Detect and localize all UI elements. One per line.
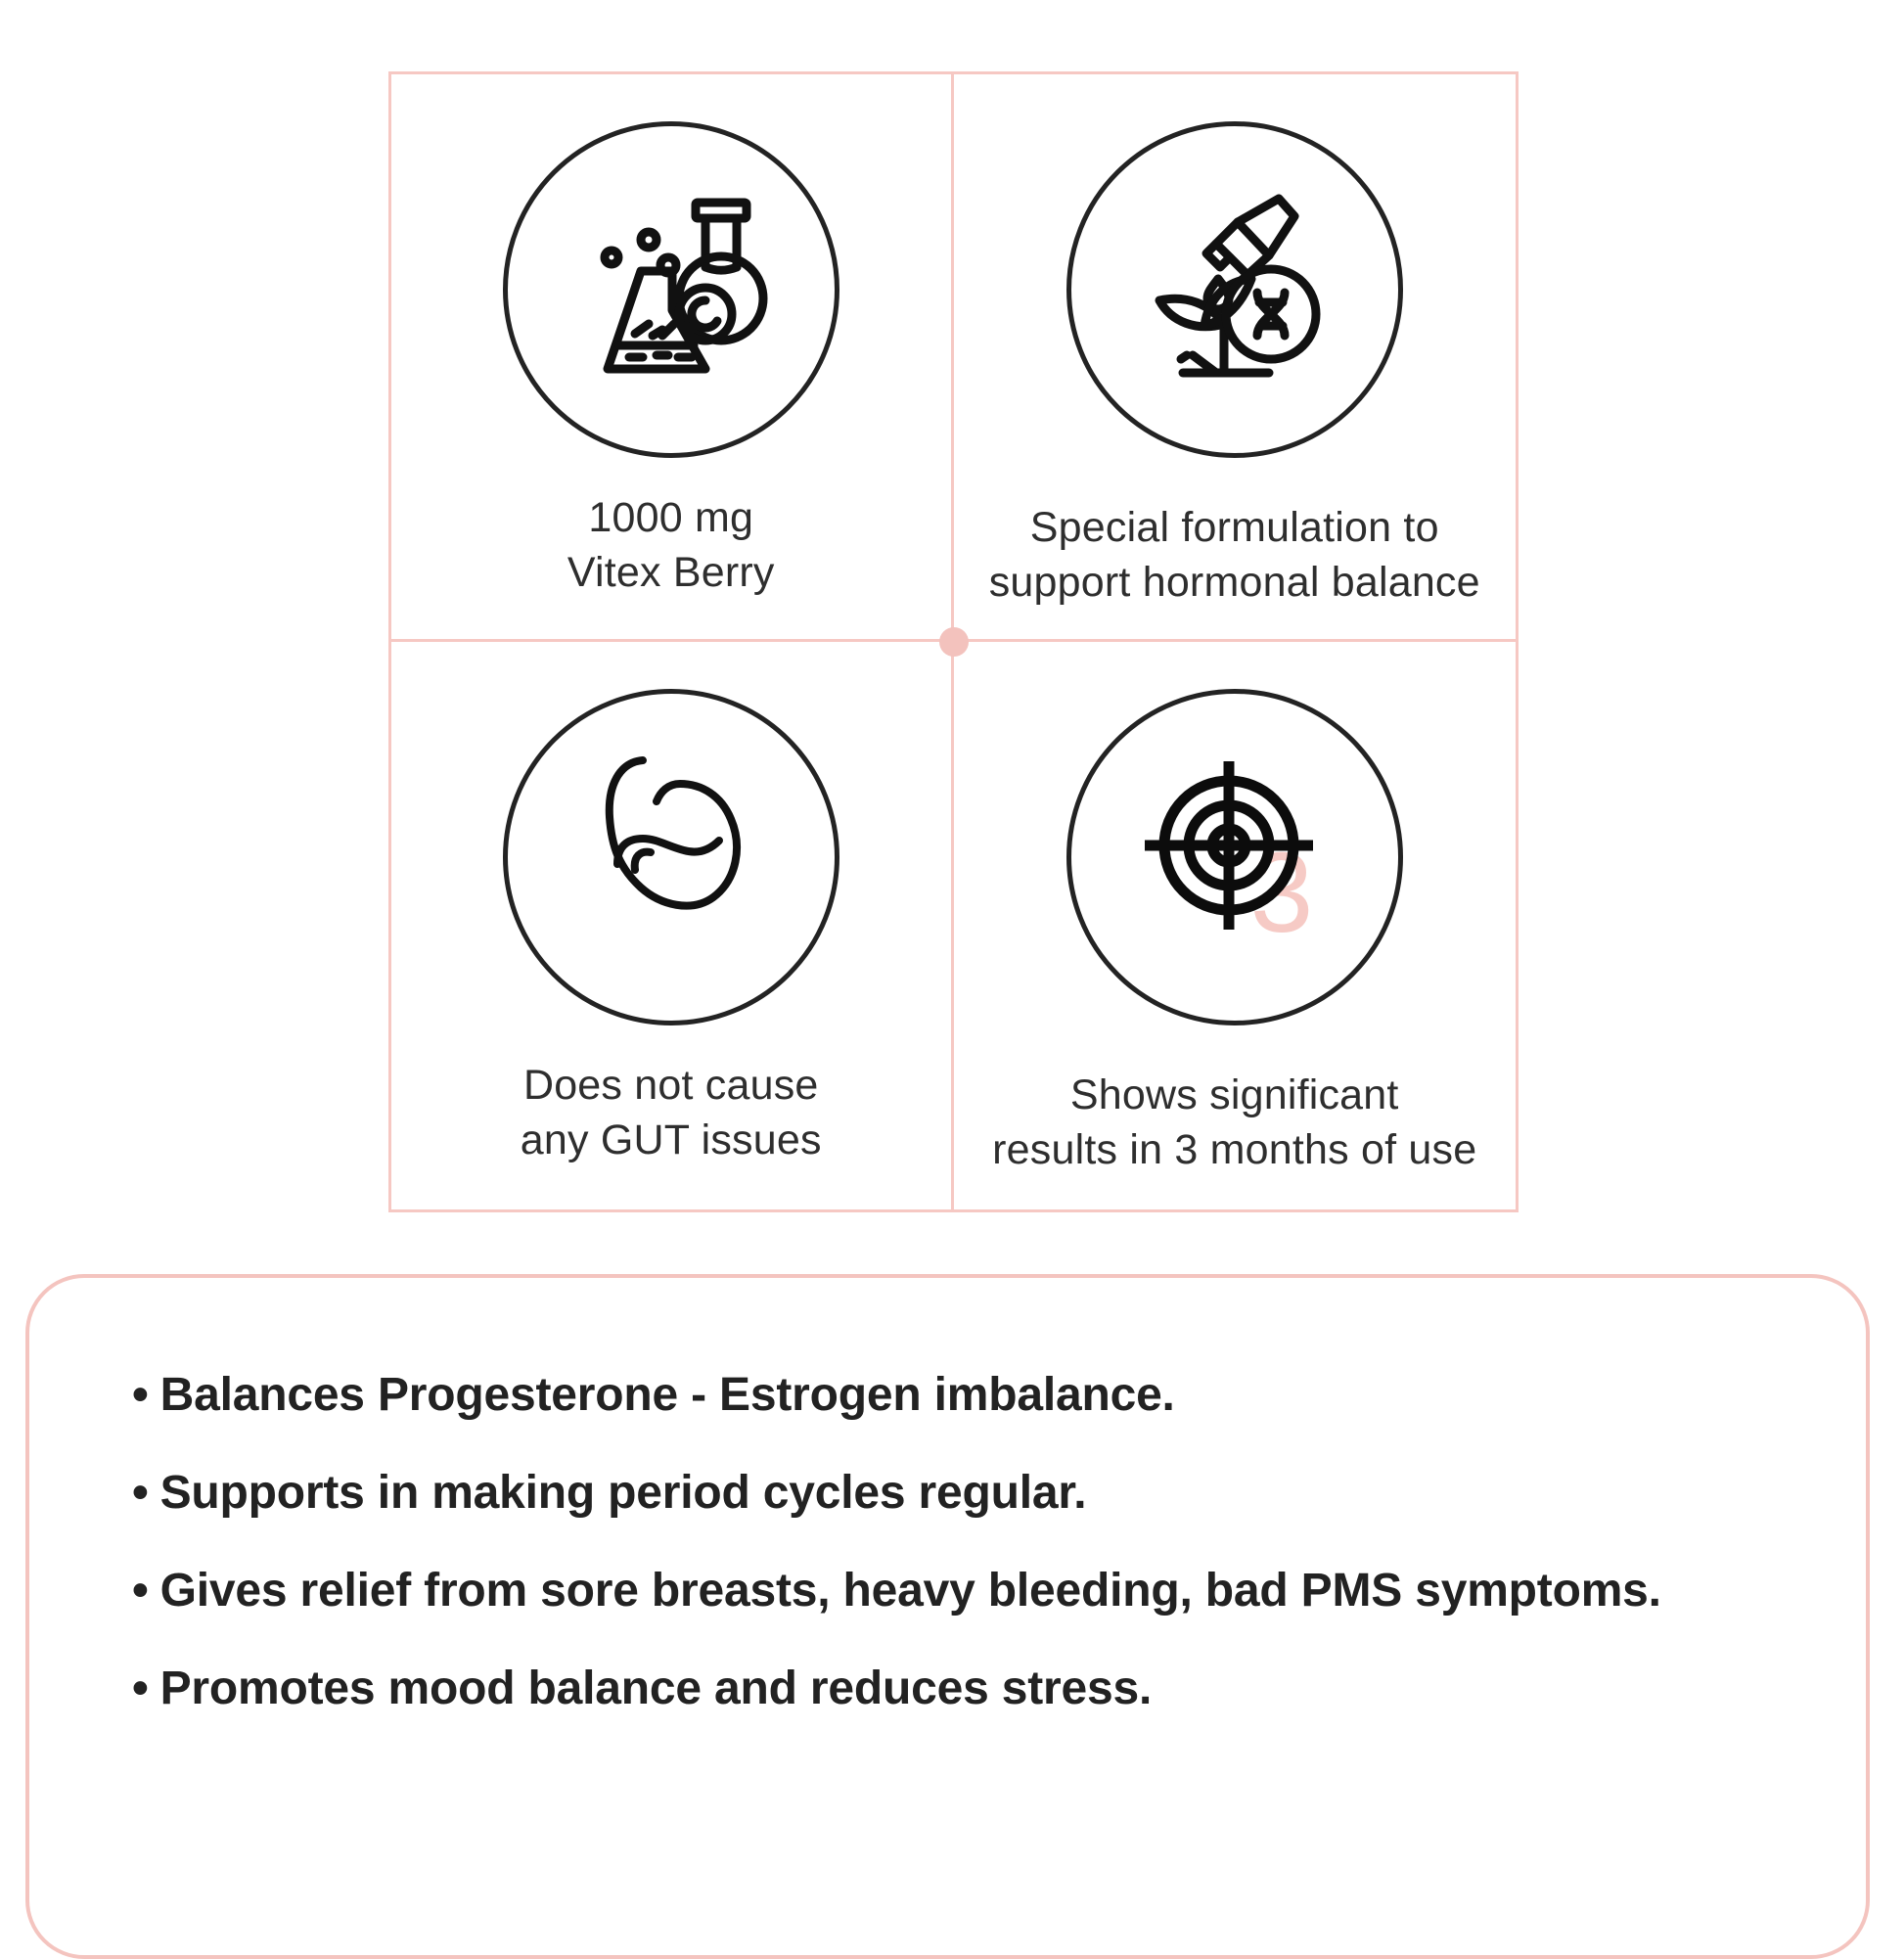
benefits-panel: •Balances Progesterone - Estrogen imbala… xyxy=(25,1274,1870,1959)
feature-caption-gut: Does not cause any GUT issues xyxy=(521,1059,822,1168)
feature-grid-container: 1000 mg Vitex Berry xyxy=(388,71,1519,1212)
list-item: •Balances Progesterone - Estrogen imbala… xyxy=(132,1372,1807,1419)
list-item: •Gives relief from sore breasts, heavy b… xyxy=(132,1568,1807,1615)
benefit-text: Promotes mood balance and reduces stress… xyxy=(160,1663,1153,1714)
feature-cell-vitex-dose: 1000 mg Vitex Berry xyxy=(391,74,954,642)
feature-cell-formulation: Special formulation to support hormonal … xyxy=(954,74,1517,642)
benefit-text: Supports in making period cycles regular… xyxy=(160,1467,1087,1519)
benefit-text: Gives relief from sore breasts, heavy bl… xyxy=(160,1565,1661,1617)
lab-flask-icon xyxy=(503,121,839,458)
feature-cell-results: 3 Shows significant results in 3 months … xyxy=(954,642,1517,1209)
bullet-glyph: • xyxy=(132,1470,149,1517)
grid-center-dot xyxy=(939,627,969,657)
bullet-glyph: • xyxy=(132,1665,149,1712)
list-item: •Supports in making period cycles regula… xyxy=(132,1470,1807,1517)
feature-caption-results: Shows significant results in 3 months of… xyxy=(992,1069,1476,1178)
list-item: •Promotes mood balance and reduces stres… xyxy=(132,1665,1807,1712)
bullet-glyph: • xyxy=(132,1568,149,1615)
target-crosshair-icon: 3 xyxy=(1066,689,1403,1025)
benefit-text: Balances Progesterone - Estrogen imbalan… xyxy=(160,1369,1175,1421)
feature-caption-vitex-dose: 1000 mg Vitex Berry xyxy=(567,491,775,601)
stomach-icon xyxy=(503,689,839,1025)
feature-caption-formulation: Special formulation to support hormonal … xyxy=(989,501,1480,611)
feature-cell-gut: Does not cause any GUT issues xyxy=(391,642,954,1209)
benefits-list: •Balances Progesterone - Estrogen imbala… xyxy=(132,1372,1807,1763)
dropper-plant-dna-icon xyxy=(1066,121,1403,458)
bullet-glyph: • xyxy=(132,1372,149,1419)
